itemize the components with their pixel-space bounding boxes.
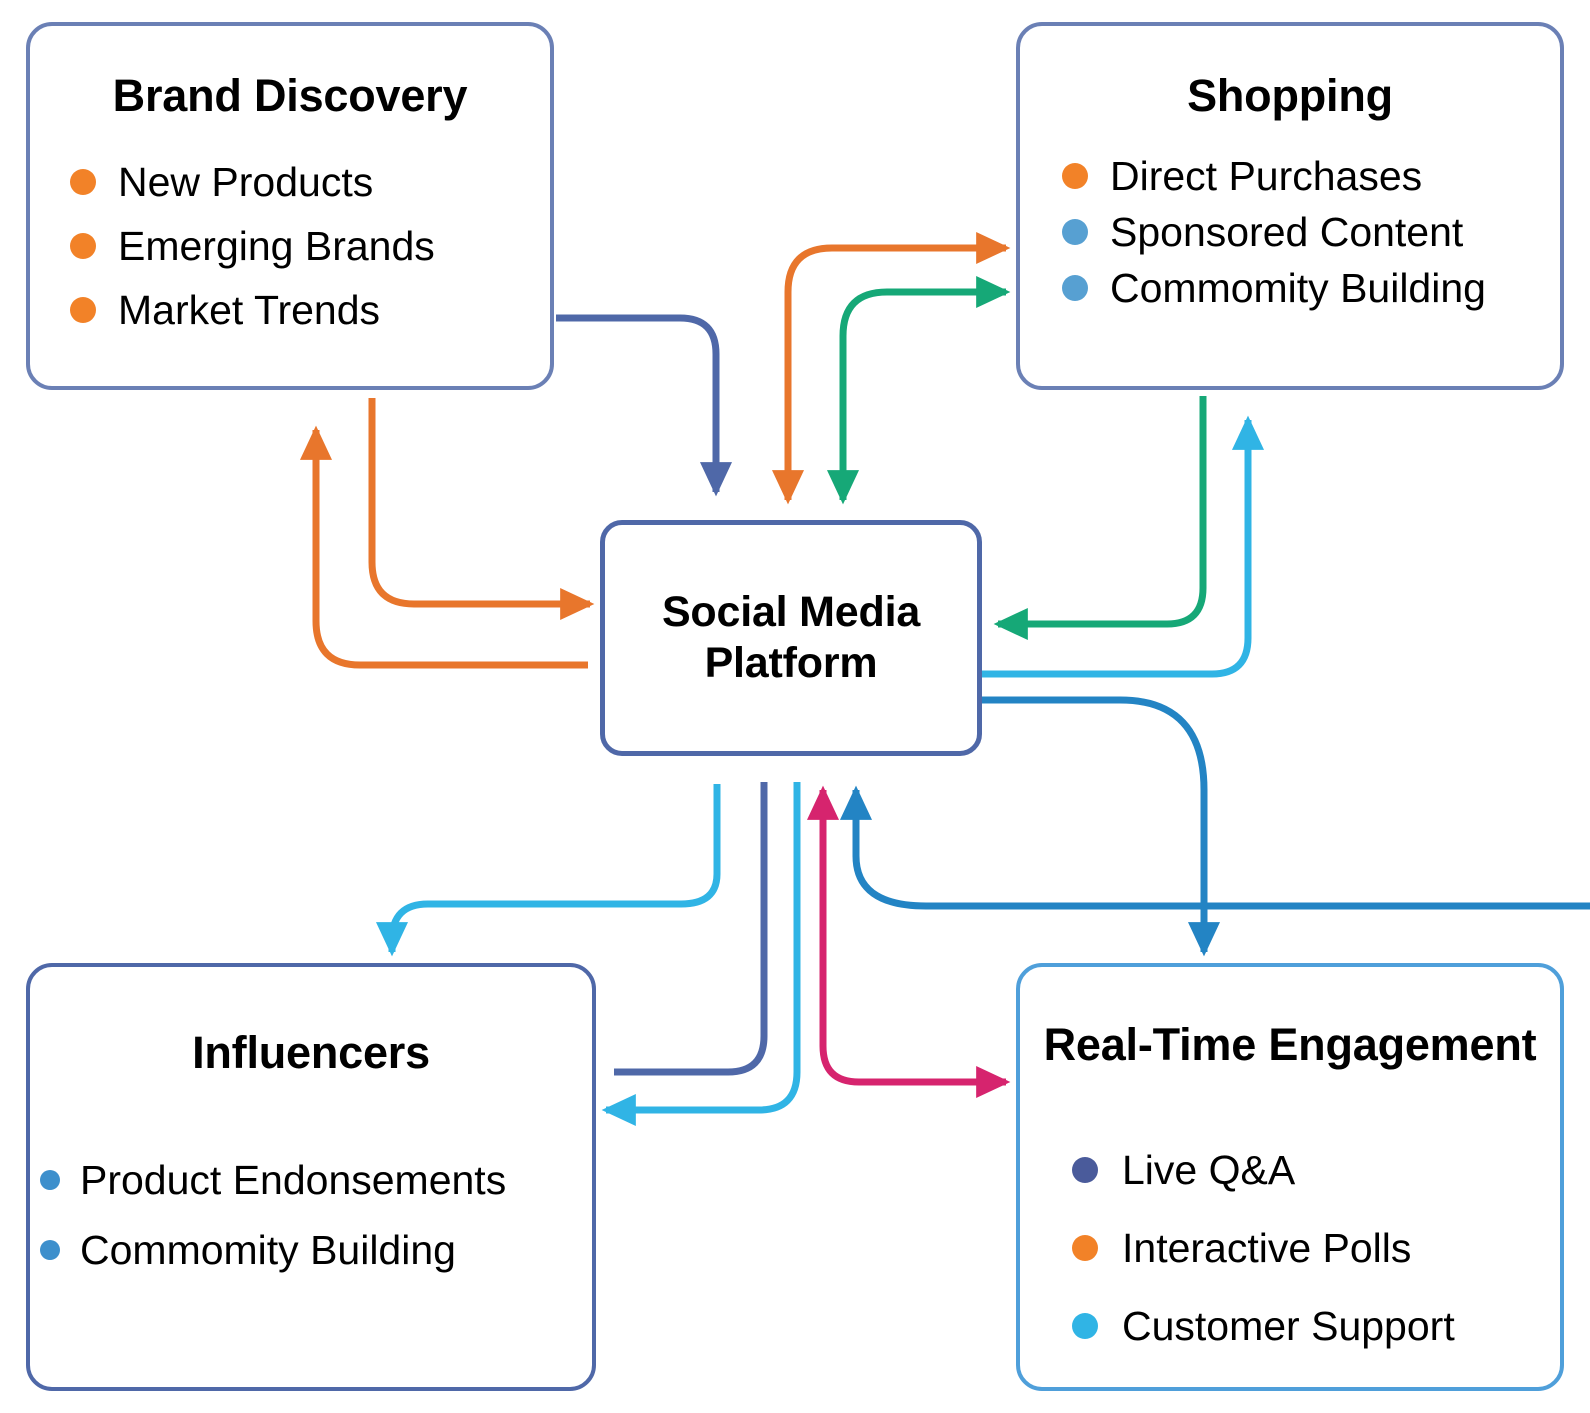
bullet-dot-icon xyxy=(1072,1235,1098,1261)
node-real-time-engagement-bullet-list: Live Q&A Interactive Polls Customer Supp… xyxy=(1072,1131,1560,1365)
platform-title-line-2: Platform xyxy=(662,638,920,689)
bullet-dot-icon xyxy=(40,1240,60,1260)
diagram-canvas: Brand Discovery New Products Emerging Br… xyxy=(0,0,1590,1413)
edge-platform-to-engagement-blue xyxy=(982,700,1204,952)
bullet-item: Market Trends xyxy=(70,278,550,342)
bullet-dot-icon xyxy=(1062,275,1088,301)
bullet-item: Commomity Building xyxy=(1062,260,1560,316)
edge-platform-to-brand-discovery xyxy=(316,430,588,665)
bullet-label: Market Trends xyxy=(118,287,380,334)
bullet-label: Customer Support xyxy=(1122,1303,1455,1350)
edge-influencers-to-platform-navy xyxy=(614,782,764,1072)
node-influencers-bullet-list: Product Endonsements Commomity Building xyxy=(40,1145,592,1285)
edge-platform-shopping-green xyxy=(843,292,1006,500)
bullet-item: Direct Purchases xyxy=(1062,148,1560,204)
bullet-dot-icon xyxy=(70,297,96,323)
bullet-label: Product Endonsements xyxy=(80,1157,506,1204)
bullet-label: Live Q&A xyxy=(1122,1147,1295,1194)
bullet-item: Product Endonsements xyxy=(40,1145,592,1215)
bullet-item: New Products xyxy=(70,150,550,214)
bullet-item: Live Q&A xyxy=(1072,1131,1560,1209)
edge-platform-to-influencers-cyan xyxy=(392,784,717,952)
edge-brand-discovery-to-platform xyxy=(556,318,716,492)
node-shopping-title: Shopping xyxy=(1020,70,1560,122)
bullet-dot-icon xyxy=(1062,163,1088,189)
bullet-label: New Products xyxy=(118,159,373,206)
bullet-label: Commomity Building xyxy=(80,1227,456,1274)
platform-title-line-1: Social Media xyxy=(662,587,920,638)
node-brand-discovery[interactable]: Brand Discovery New Products Emerging Br… xyxy=(26,22,554,390)
edge-shopping-to-platform-green xyxy=(998,396,1203,624)
node-social-media-platform-title: Social Media Platform xyxy=(662,587,920,688)
node-social-media-platform[interactable]: Social Media Platform xyxy=(600,520,982,756)
bullet-dot-icon xyxy=(40,1170,60,1190)
edge-engagement-to-platform-blue xyxy=(856,790,1590,906)
bullet-label: Direct Purchases xyxy=(1110,153,1422,200)
edge-platform-shopping-orange xyxy=(788,248,1006,500)
node-brand-discovery-bullet-list: New Products Emerging Brands Market Tren… xyxy=(70,150,550,342)
bullet-dot-icon xyxy=(1072,1157,1098,1183)
bullet-dot-icon xyxy=(70,233,96,259)
node-influencers[interactable]: Influencers Product Endonsements Commomi… xyxy=(26,963,596,1391)
edge-platform-to-influencers-left-cyan xyxy=(606,782,797,1110)
edge-platform-to-engagement-pink xyxy=(823,790,1006,1082)
bullet-item: Commomity Building xyxy=(40,1215,592,1285)
bullet-item: Customer Support xyxy=(1072,1287,1560,1365)
node-shopping[interactable]: Shopping Direct Purchases Sponsored Cont… xyxy=(1016,22,1564,390)
bullet-dot-icon xyxy=(70,169,96,195)
bullet-label: Sponsored Content xyxy=(1110,209,1463,256)
node-brand-discovery-title: Brand Discovery xyxy=(30,70,550,122)
node-shopping-bullet-list: Direct Purchases Sponsored Content Commo… xyxy=(1062,148,1560,316)
node-influencers-title: Influencers xyxy=(30,1027,592,1079)
edge-platform-to-shopping-cyan xyxy=(982,420,1248,674)
bullet-label: Interactive Polls xyxy=(1122,1225,1411,1272)
bullet-item: Emerging Brands xyxy=(70,214,550,278)
bullet-label: Commomity Building xyxy=(1110,265,1486,312)
bullet-item: Interactive Polls xyxy=(1072,1209,1560,1287)
bullet-dot-icon xyxy=(1062,219,1088,245)
bullet-label: Emerging Brands xyxy=(118,223,435,270)
bullet-item: Sponsored Content xyxy=(1062,204,1560,260)
bullet-dot-icon xyxy=(1072,1313,1098,1339)
edge-brand-discovery-to-platform-orange xyxy=(372,398,590,604)
node-real-time-engagement-title: Real-Time Engagement xyxy=(1020,1019,1560,1071)
node-real-time-engagement[interactable]: Real-Time Engagement Live Q&A Interactiv… xyxy=(1016,963,1564,1391)
